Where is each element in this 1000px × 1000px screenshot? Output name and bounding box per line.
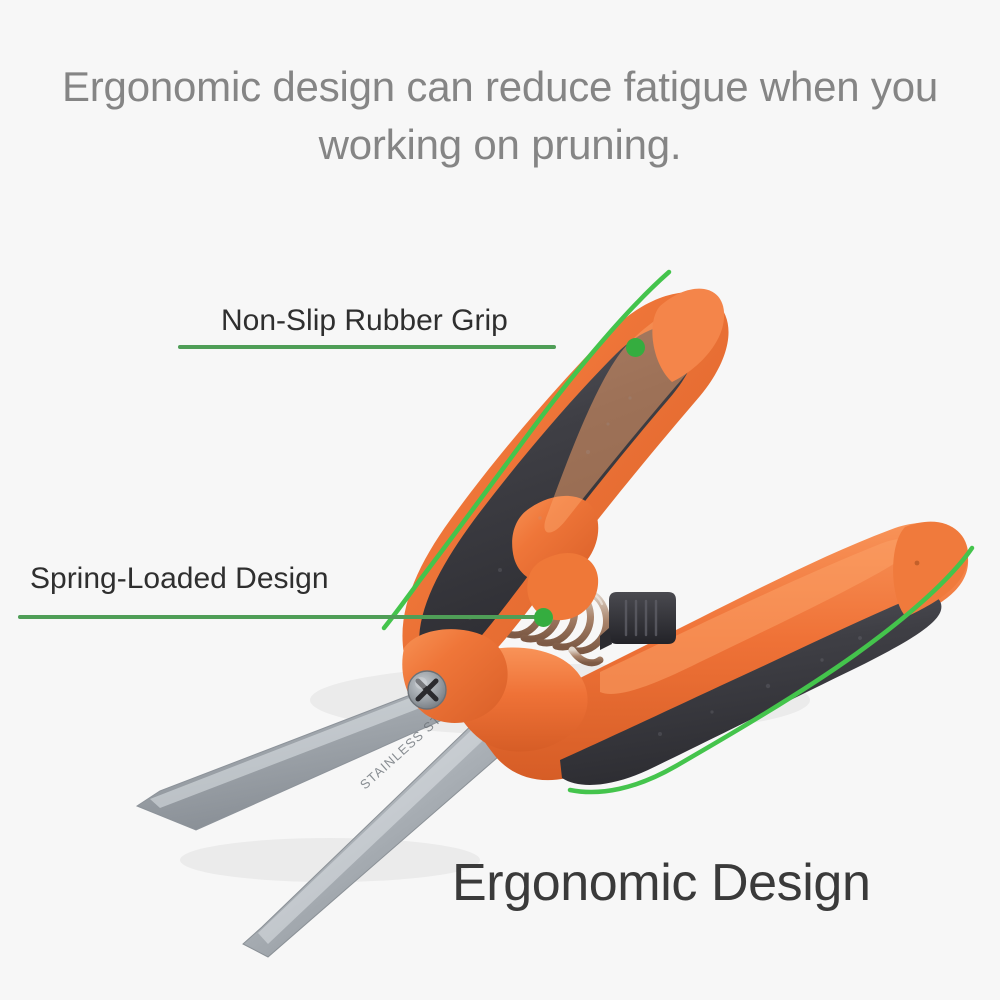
page-title: Ergonomic design can reduce fatigue when… bbox=[30, 58, 970, 174]
callout-label-rubber-grip: Non-Slip Rubber Grip bbox=[221, 303, 508, 339]
pivot-screw bbox=[408, 671, 446, 709]
safety-lock bbox=[600, 592, 676, 650]
callout-leader-line-rubber-grip bbox=[178, 345, 556, 349]
callout-leader-line-spring-loaded bbox=[18, 615, 543, 619]
feature-caption: Ergonomic Design bbox=[452, 852, 870, 914]
callout-dot-spring-loaded bbox=[534, 608, 553, 627]
callout-label-spring-loaded: Spring-Loaded Design bbox=[30, 561, 329, 597]
callout-dot-rubber-grip bbox=[626, 338, 645, 357]
product-feature-image: STAINLESS STEEL bbox=[0, 0, 1000, 1000]
